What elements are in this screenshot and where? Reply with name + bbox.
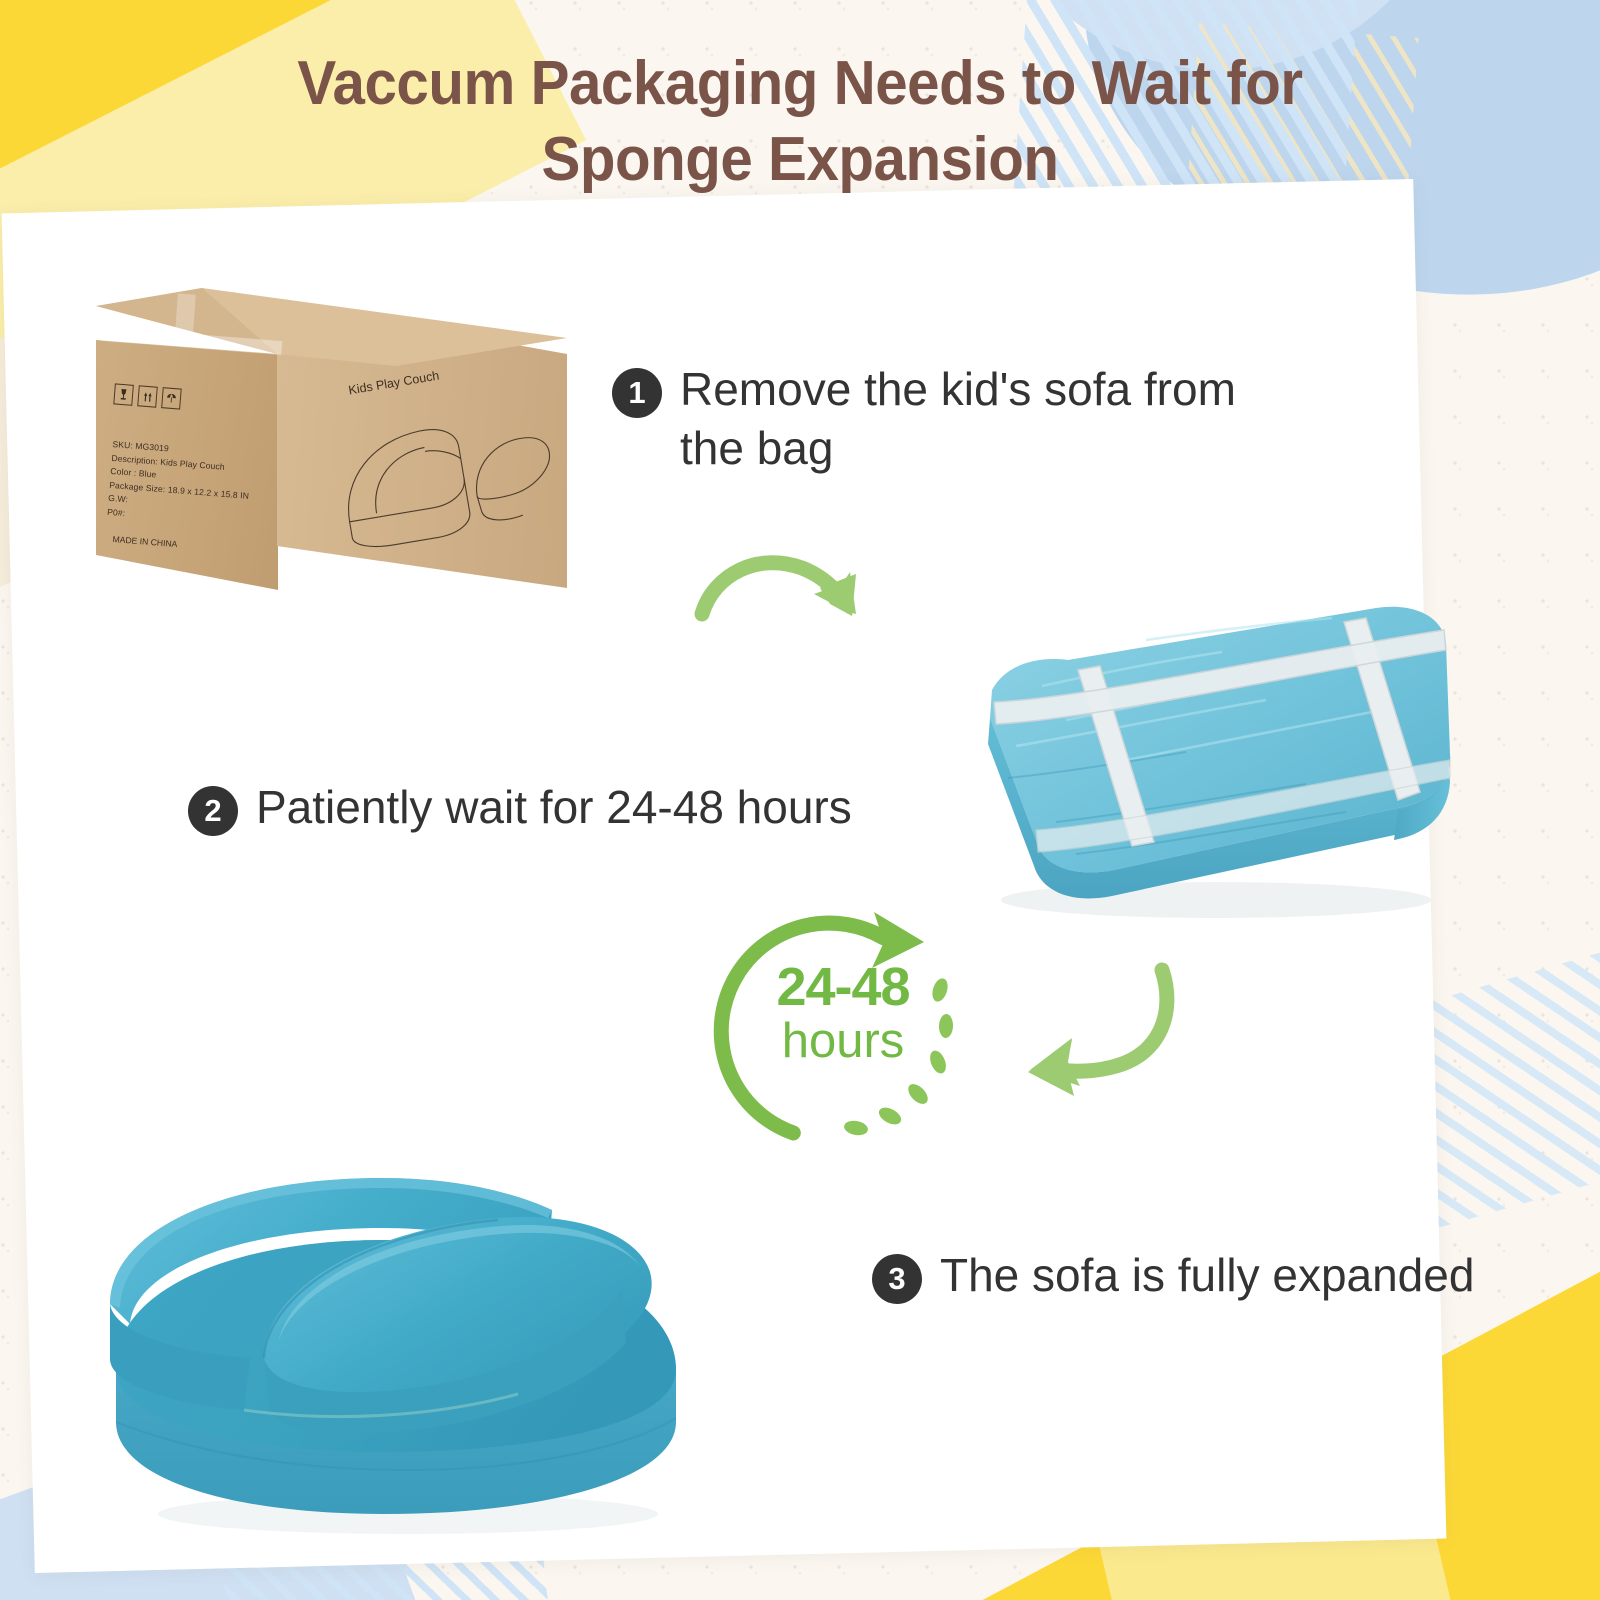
box-spec-label: SKU: MG3019 Description: Kids Play Couch… xyxy=(107,438,283,533)
keep-dry-umbrella-icon xyxy=(161,387,182,409)
step-2-badge: 2 xyxy=(188,786,238,836)
fragile-glass-icon xyxy=(113,383,134,405)
step-3-badge: 3 xyxy=(872,1254,922,1304)
wait-timer-graphic: 24-48 hours xyxy=(688,898,998,1158)
timer-unit: hours xyxy=(688,1015,998,1068)
arrow-down-left-icon xyxy=(1000,950,1190,1105)
timer-duration: 24-48 xyxy=(688,960,998,1015)
step-3: 3 The sofa is fully expanded xyxy=(872,1246,1474,1305)
step-2-text: Patiently wait for 24-48 hours xyxy=(256,778,852,837)
step-2: 2 Patiently wait for 24-48 hours xyxy=(188,778,852,837)
step-1-text: Remove the kid's sofa from the bag xyxy=(680,360,1280,478)
product-box-illustration: SKU: MG3019 Description: Kids Play Couch… xyxy=(96,288,566,618)
expanded-sofa-illustration xyxy=(78,1122,718,1542)
arrow-down-right-icon xyxy=(680,528,880,658)
this-side-up-icon xyxy=(137,385,158,407)
infographic-canvas: Vaccum Packaging Needs to Wait for Spong… xyxy=(0,0,1600,1600)
timer-label: 24-48 hours xyxy=(688,960,998,1068)
title-line-2: Sponge Expansion xyxy=(48,122,1552,198)
step-1-badge: 1 xyxy=(612,368,662,418)
box-tape-strip-top xyxy=(174,293,196,346)
vacuum-sealed-bag-illustration xyxy=(946,578,1466,928)
page-title: Vaccum Packaging Needs to Wait for Spong… xyxy=(48,46,1552,197)
step-1: 1 Remove the kid's sofa from the bag xyxy=(612,360,1280,478)
step-3-text: The sofa is fully expanded xyxy=(940,1246,1474,1305)
title-line-1: Vaccum Packaging Needs to Wait for xyxy=(297,49,1302,118)
